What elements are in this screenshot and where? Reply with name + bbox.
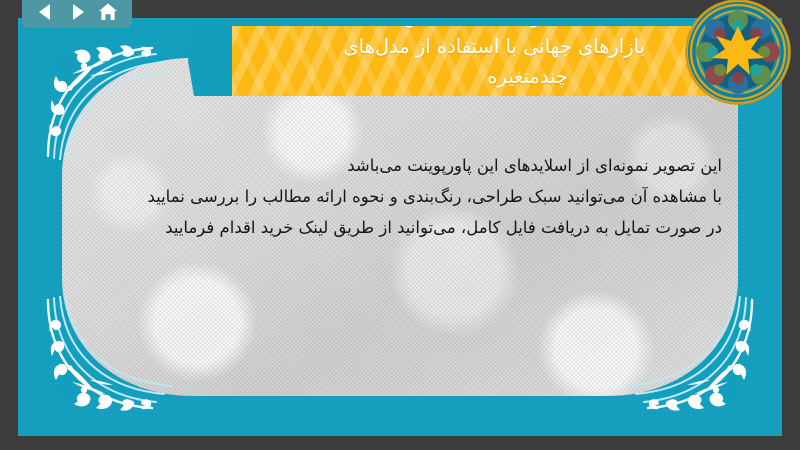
slide-title: کامل تحلیل انتقال نوسانات مالی بین بازار… <box>232 26 740 92</box>
triangle-left-icon <box>36 2 56 22</box>
body-line-1: این تصویر نمونه‌ای از اسلایدهای این پاور… <box>78 150 722 181</box>
body-line-2: با مشاهده آن می‌توانید سبک طراحی، رنگ‌بن… <box>78 181 722 212</box>
forward-button[interactable] <box>65 1 89 23</box>
persian-medallion-icon <box>684 0 792 106</box>
panel-corner-bottom-right <box>608 278 738 396</box>
slide-body-text: این تصویر نمونه‌ای از اسلایدهای این پاور… <box>78 150 722 243</box>
banner-pennant <box>188 26 234 96</box>
title-line-2: بازارهای جهانی با استفاده از مدل‌های <box>232 32 740 62</box>
navigation-bar <box>22 0 132 28</box>
title-banner: کامل تحلیل انتقال نوسانات مالی بین بازار… <box>232 26 752 96</box>
body-line-3: در صورت تمایل به دریافت فایل کامل، می‌تو… <box>78 212 722 243</box>
home-icon <box>98 2 118 22</box>
presentation-window: این تصویر نمونه‌ای از اسلایدهای این پاور… <box>0 0 800 450</box>
home-button[interactable] <box>96 1 120 23</box>
title-line-3: چندمتغیره <box>232 62 740 92</box>
triangle-right-icon <box>67 2 87 22</box>
back-button[interactable] <box>34 1 58 23</box>
panel-corner-bottom-left <box>62 278 192 396</box>
